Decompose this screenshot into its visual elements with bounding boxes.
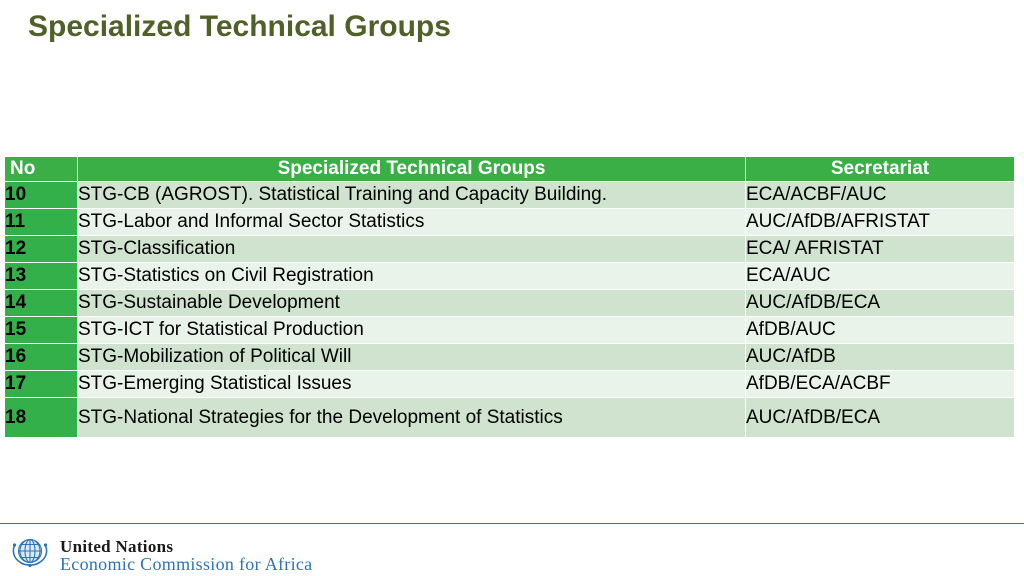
footer-text-block: United Nations Economic Commission for A… (60, 538, 312, 574)
row-secretariat: AfDB/ECA/ACBF (746, 371, 1014, 397)
footer-divider (0, 523, 1024, 524)
row-group-name: STG-Labor and Informal Sector Statistics (78, 209, 745, 235)
row-secretariat: ECA/AUC (746, 263, 1014, 289)
row-number: 17 (5, 371, 77, 397)
row-secretariat: AUC/AfDB (746, 344, 1014, 370)
table-row: 16 STG-Mobilization of Political Will AU… (5, 344, 1014, 370)
row-group-name: STG-Sustainable Development (78, 290, 745, 316)
row-secretariat: AUC/AfDB/AFRISTAT (746, 209, 1014, 235)
table-row: 13 STG-Statistics on Civil Registration … (5, 263, 1014, 289)
table-row: 11 STG-Labor and Informal Sector Statist… (5, 209, 1014, 235)
footer-organization-subtitle: Economic Commission for Africa (60, 555, 312, 574)
table-row: 10 STG-CB (AGROST). Statistical Training… (5, 182, 1014, 208)
column-header-no: No (5, 157, 77, 181)
table-row: 17 STG-Emerging Statistical Issues AfDB/… (5, 371, 1014, 397)
row-number: 12 (5, 236, 77, 262)
row-secretariat: ECA/ AFRISTAT (746, 236, 1014, 262)
un-emblem-icon (8, 536, 52, 574)
row-group-name: STG-Classification (78, 236, 745, 262)
row-group-name: STG-National Strategies for the Developm… (78, 398, 745, 437)
row-secretariat: ECA/ACBF/AUC (746, 182, 1014, 208)
table-row: 14 STG-Sustainable Development AUC/AfDB/… (5, 290, 1014, 316)
row-number: 18 (5, 398, 77, 437)
column-header-secretariat: Secretariat (746, 157, 1014, 181)
row-number: 16 (5, 344, 77, 370)
row-secretariat: AUC/AfDB/ECA (746, 398, 1014, 437)
specialized-technical-groups-table: No Specialized Technical Groups Secretar… (4, 156, 1015, 438)
table-body: 10 STG-CB (AGROST). Statistical Training… (5, 182, 1014, 437)
table-row: 18 STG-National Strategies for the Devel… (5, 398, 1014, 437)
row-group-name: STG-Statistics on Civil Registration (78, 263, 745, 289)
column-header-specialized-technical-groups: Specialized Technical Groups (78, 157, 745, 181)
row-secretariat: AfDB/AUC (746, 317, 1014, 343)
footer-organization-name: United Nations (60, 538, 312, 555)
row-number: 15 (5, 317, 77, 343)
row-group-name: STG-Mobilization of Political Will (78, 344, 745, 370)
row-group-name: STG-ICT for Statistical Production (78, 317, 745, 343)
page-title: Specialized Technical Groups (28, 10, 451, 44)
row-secretariat: AUC/AfDB/ECA (746, 290, 1014, 316)
row-number: 11 (5, 209, 77, 235)
row-number: 10 (5, 182, 77, 208)
row-group-name: STG-Emerging Statistical Issues (78, 371, 745, 397)
table-row: 15 STG-ICT for Statistical Production Af… (5, 317, 1014, 343)
row-number: 13 (5, 263, 77, 289)
row-group-name: STG-CB (AGROST). Statistical Training an… (78, 182, 745, 208)
table-row: 12 STG-Classification ECA/ AFRISTAT (5, 236, 1014, 262)
row-number: 14 (5, 290, 77, 316)
uneca-logo: United Nations Economic Commission for A… (8, 536, 338, 576)
table-header-row: No Specialized Technical Groups Secretar… (5, 157, 1014, 181)
